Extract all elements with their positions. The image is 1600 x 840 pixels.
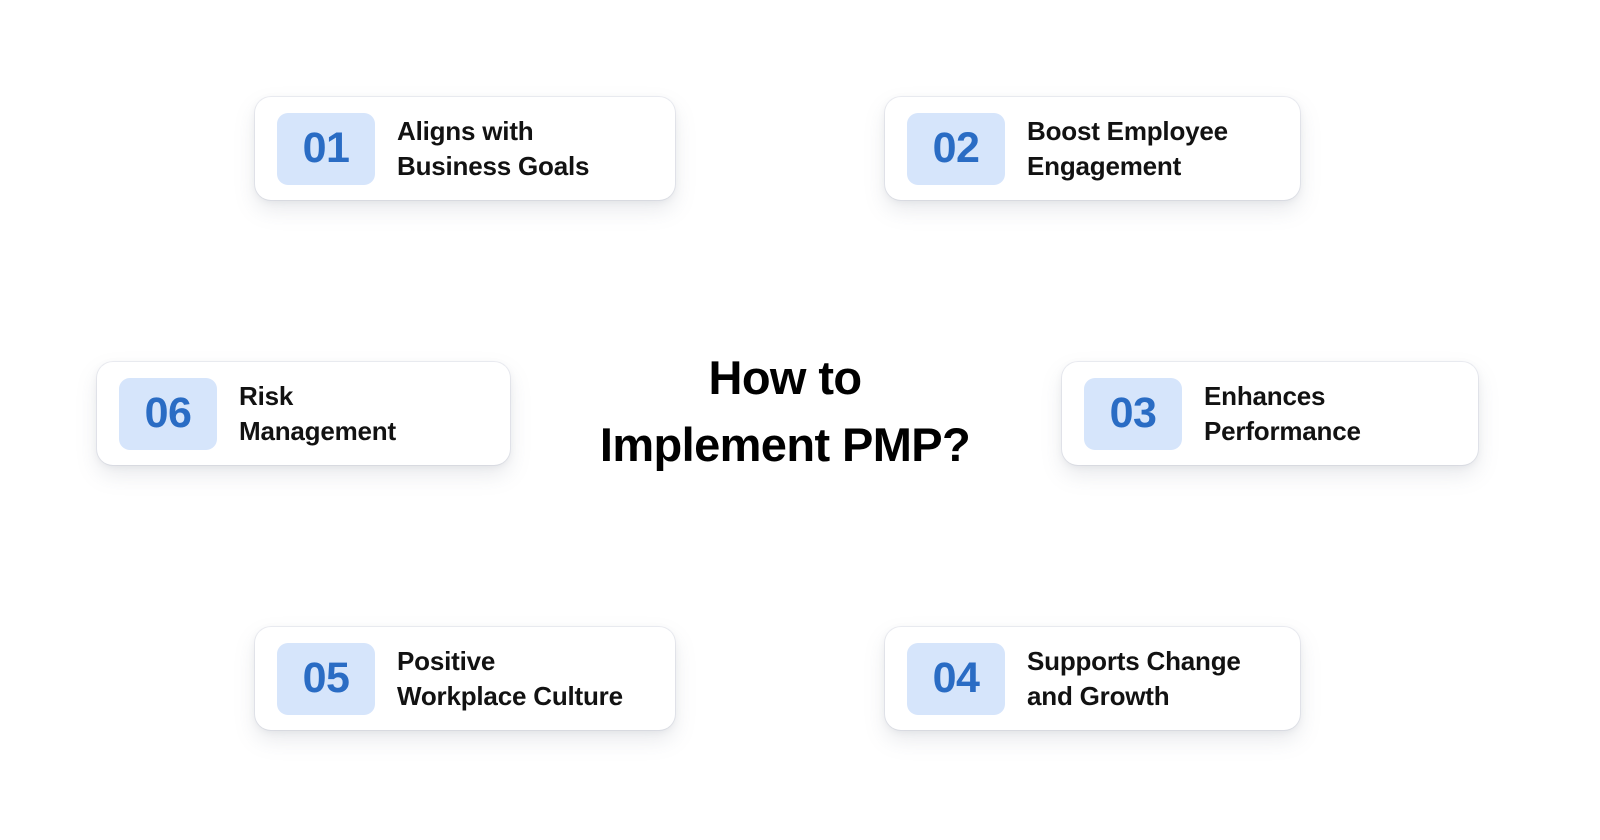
step-card-01[interactable]: 01 Aligns with Business Goals bbox=[255, 97, 675, 200]
step-card-03[interactable]: 03 Enhances Performance bbox=[1062, 362, 1478, 465]
step-label-01: Aligns with Business Goals bbox=[397, 114, 589, 183]
step-label-05: Positive Workplace Culture bbox=[397, 644, 623, 713]
step-number-badge-05: 05 bbox=[277, 643, 375, 715]
step-number-badge-04: 04 bbox=[907, 643, 1005, 715]
step-label-02: Boost Employee Engagement bbox=[1027, 114, 1228, 183]
page-title: How to Implement PMP? bbox=[560, 345, 1010, 478]
step-label-04: Supports Change and Growth bbox=[1027, 644, 1241, 713]
step-card-06[interactable]: 06 Risk Management bbox=[97, 362, 510, 465]
step-card-02[interactable]: 02 Boost Employee Engagement bbox=[885, 97, 1300, 200]
infographic-canvas: How to Implement PMP? 01 Aligns with Bus… bbox=[0, 0, 1600, 840]
step-card-04[interactable]: 04 Supports Change and Growth bbox=[885, 627, 1300, 730]
step-number-badge-02: 02 bbox=[907, 113, 1005, 185]
step-number-badge-03: 03 bbox=[1084, 378, 1182, 450]
step-card-05[interactable]: 05 Positive Workplace Culture bbox=[255, 627, 675, 730]
step-number-badge-01: 01 bbox=[277, 113, 375, 185]
step-number-badge-06: 06 bbox=[119, 378, 217, 450]
step-label-06: Risk Management bbox=[239, 379, 396, 448]
step-label-03: Enhances Performance bbox=[1204, 379, 1361, 448]
